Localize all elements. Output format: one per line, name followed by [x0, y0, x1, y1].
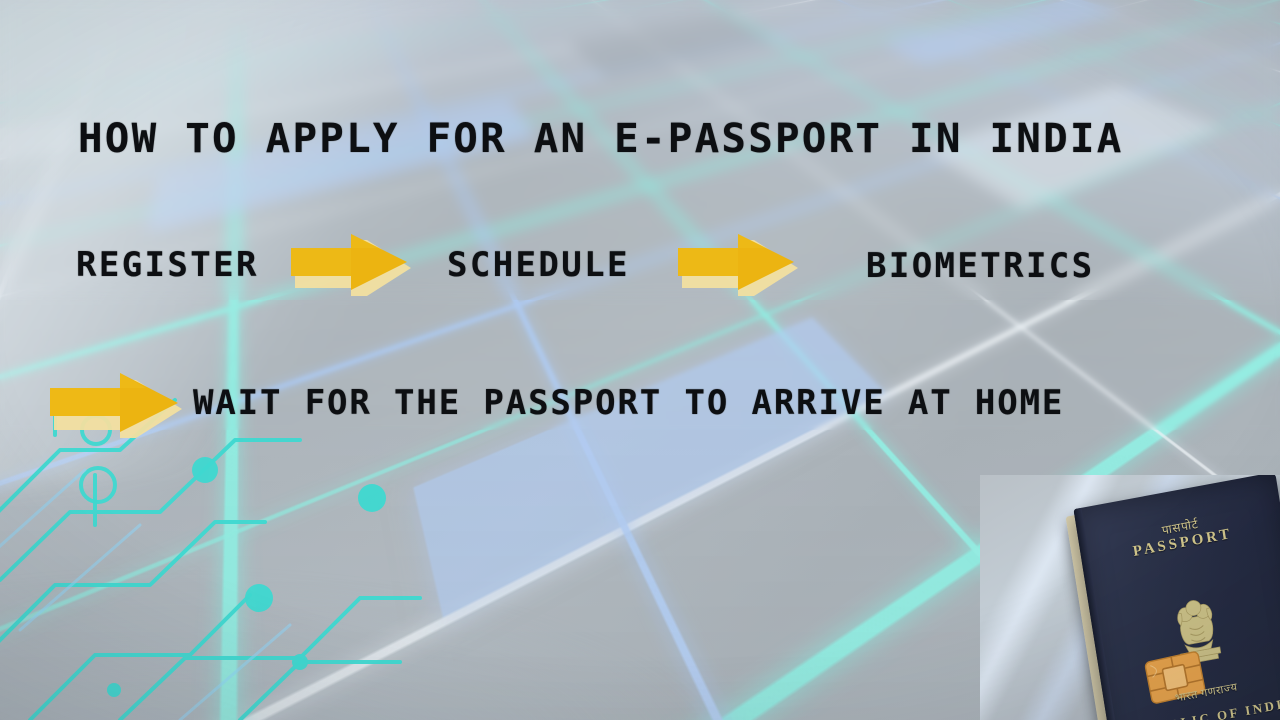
step-label-wait-for-passport: WAIT FOR THE PASSPORT TO ARRIVE AT HOME: [193, 383, 1064, 423]
passport-cover: पासपोर्ट PASSPORT: [1074, 475, 1280, 720]
step-label-schedule: SCHEDULE: [447, 245, 630, 285]
step-label-biometrics: BIOMETRICS: [866, 246, 1095, 286]
arrow-register-to-schedule-icon: [289, 228, 411, 296]
arrow-biometrics-to-wait-icon: [42, 368, 182, 438]
arrow-schedule-to-biometrics-icon: [676, 228, 798, 296]
indian-epassport-photo: पासपोर्ट PASSPORT: [980, 475, 1280, 720]
passport-booklet: पासपोर्ट PASSPORT: [1074, 475, 1280, 720]
poster-canvas: HOW TO APPLY FOR AN E-PASSPORT IN INDIA …: [0, 0, 1280, 720]
step-label-register: REGISTER: [76, 245, 259, 285]
page-title: HOW TO APPLY FOR AN E-PASSPORT IN INDIA: [78, 116, 1124, 162]
